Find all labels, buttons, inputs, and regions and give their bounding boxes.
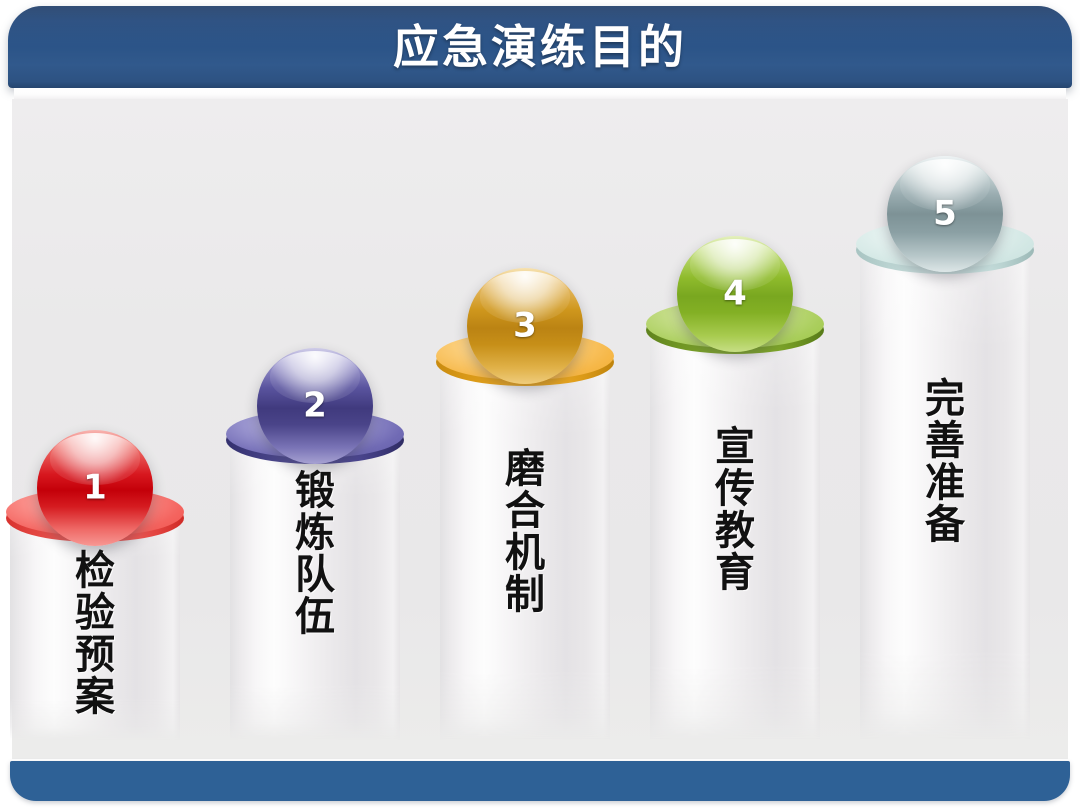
sphere-5[interactable]: 5 — [887, 156, 1003, 272]
sphere-1[interactable]: 1 — [37, 430, 153, 546]
label-char: 检 — [10, 550, 180, 592]
slide-canvas: 应急演练目的 1 检 验 预 案 2 锻 — [0, 0, 1080, 810]
label-char: 教 — [650, 510, 820, 552]
sphere-number-3: 3 — [467, 308, 583, 342]
sphere-number-1: 1 — [37, 470, 153, 504]
sphere-4[interactable]: 4 — [677, 236, 793, 352]
sphere-3[interactable]: 3 — [467, 268, 583, 384]
label-char: 案 — [10, 676, 180, 718]
sphere-number-5: 5 — [887, 196, 1003, 230]
column-5[interactable]: 5 完 善 准 备 — [860, 156, 1030, 740]
banner-gloss-strip — [14, 88, 1066, 99]
sphere-number-4: 4 — [677, 276, 793, 310]
label-char: 伍 — [230, 596, 400, 638]
title-banner: 应急演练目的 — [8, 6, 1072, 88]
sphere-number-2: 2 — [257, 388, 373, 422]
label-char: 善 — [860, 420, 1030, 462]
column-4[interactable]: 4 宣 传 教 育 — [650, 236, 820, 740]
label-char: 验 — [10, 592, 180, 634]
cylinder-label-1: 检 验 预 案 — [10, 550, 180, 718]
cylinder-label-2: 锻 炼 队 伍 — [230, 470, 400, 638]
cylinder-label-4: 宣 传 教 育 — [650, 426, 820, 594]
bottom-bar — [10, 761, 1070, 801]
page-title: 应急演练目的 — [8, 24, 1072, 70]
label-char: 磨 — [440, 448, 610, 490]
label-char: 合 — [440, 490, 610, 532]
label-char: 锻 — [230, 470, 400, 512]
label-char: 准 — [860, 462, 1030, 504]
label-char: 传 — [650, 468, 820, 510]
label-char: 制 — [440, 574, 610, 616]
sphere-2[interactable]: 2 — [257, 348, 373, 464]
column-3[interactable]: 3 磨 合 机 制 — [440, 268, 610, 740]
label-char: 宣 — [650, 426, 820, 468]
column-2[interactable]: 2 锻 炼 队 伍 — [230, 348, 400, 740]
label-char: 育 — [650, 552, 820, 594]
label-char: 完 — [860, 378, 1030, 420]
column-1[interactable]: 1 检 验 预 案 — [10, 430, 180, 740]
cylinder-label-5: 完 善 准 备 — [860, 378, 1030, 546]
label-char: 备 — [860, 504, 1030, 546]
cylinder-label-3: 磨 合 机 制 — [440, 448, 610, 616]
label-char: 队 — [230, 554, 400, 596]
label-char: 机 — [440, 532, 610, 574]
label-char: 预 — [10, 634, 180, 676]
label-char: 炼 — [230, 512, 400, 554]
